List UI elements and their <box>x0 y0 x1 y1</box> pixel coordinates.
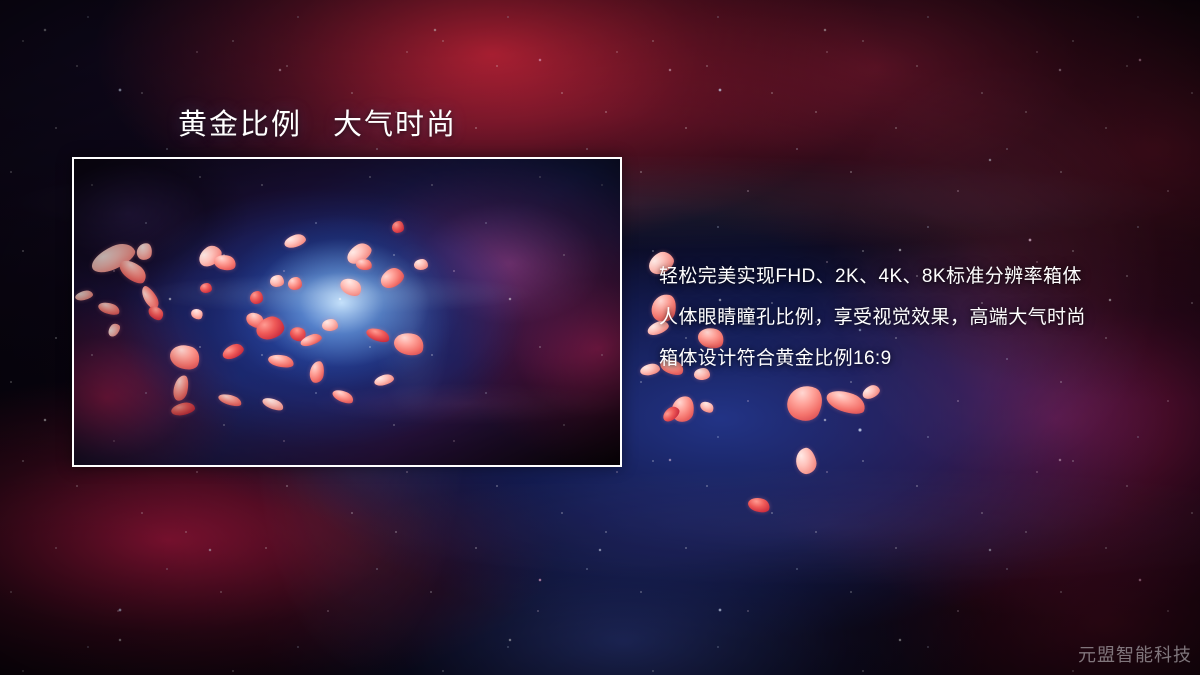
body-text-line: 人体眼睛瞳孔比例，享受视觉效果，高端大气时尚 <box>659 297 1129 338</box>
flower-petal-icon <box>824 386 868 418</box>
body-text-line: 箱体设计符合黄金比例16:9 <box>659 338 1129 379</box>
watermark: 元盟智能科技 <box>1078 641 1192 667</box>
body-text-block: 轻松完美实现FHD、2K、4K、8K标准分辨率箱体 人体眼睛瞳孔比例，享受视觉效… <box>659 256 1129 379</box>
flower-petal-icon <box>698 399 715 415</box>
framed-image <box>72 157 622 467</box>
flower-petal-icon <box>782 379 828 426</box>
frame-photo-vignette <box>74 159 620 465</box>
flower-petal-icon <box>639 362 661 376</box>
flower-petal-icon <box>794 446 819 476</box>
flower-petal-icon <box>670 394 696 423</box>
slide-canvas: 黄金比例 大气时尚 轻松完美实现FHD、2K、4K、8K标准分辨率箱体 人体眼睛… <box>0 0 1200 675</box>
body-text-line: 轻松完美实现FHD、2K、4K、8K标准分辨率箱体 <box>659 256 1129 297</box>
slide-title: 黄金比例 大气时尚 <box>178 101 457 143</box>
flower-petal-icon <box>660 404 682 424</box>
flower-petal-icon <box>860 383 881 401</box>
flower-petal-icon <box>746 495 771 515</box>
